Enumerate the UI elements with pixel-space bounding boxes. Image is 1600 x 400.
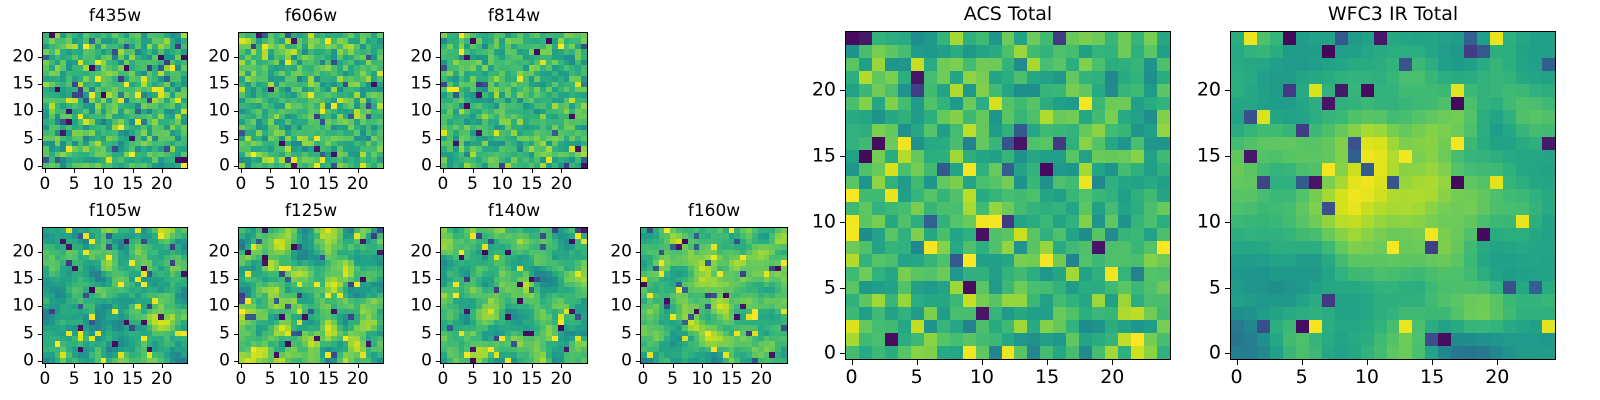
heatmap-cell [1002,71,1015,84]
x-tick-mark [473,169,474,173]
x-tick-mark [502,169,503,173]
heatmap-cell [937,228,950,241]
heatmap-cell [1066,241,1079,254]
x-tick-mark [358,169,359,173]
x-tick-mark [643,364,644,368]
x-tick-mark [329,364,330,368]
heatmap-cell [1079,58,1092,71]
heatmap-cell [1144,58,1157,71]
heatmap-cell [1105,124,1118,137]
heatmap-cell [911,84,924,97]
heatmap-cell [1002,45,1015,58]
heatmap-cell [1027,254,1040,267]
heatmap-cell [1144,32,1157,45]
heatmap-cell [872,32,885,45]
heatmap-cell [872,137,885,150]
y-tick-mark [436,306,440,307]
heatmap-grid [641,228,787,363]
heatmap-cell [846,110,859,123]
heatmap-cell [1092,58,1105,71]
heatmap-cell [1092,215,1105,228]
heatmap-cell [924,176,937,189]
heatmap-cell [1053,163,1066,176]
heatmap-cell [1079,150,1092,163]
heatmap-cell [989,163,1002,176]
y-tick-mark [234,111,238,112]
heatmap-cell [1027,110,1040,123]
heatmap-cell [1092,71,1105,84]
heatmap-cell [898,124,911,137]
heatmap-cell [950,124,963,137]
heatmap-cell [1092,45,1105,58]
heatmap-cell [846,150,859,163]
heatmap-cell [181,358,187,363]
heatmap-cell [581,358,587,363]
heatmap-cell [1118,176,1131,189]
heatmap-cell [1014,150,1027,163]
y-tick-label: 0 [392,353,432,370]
heatmap-cell [1144,137,1157,150]
heatmap-cell [1105,84,1118,97]
heatmap-cell [781,358,787,363]
heatmap-cell [1105,45,1118,58]
heatmap-cell [1014,228,1027,241]
heatmap-cell [846,124,859,137]
heatmap-cell [872,71,885,84]
heatmap-cell [1040,163,1053,176]
y-tick-label: 10 [592,298,632,315]
y-tick-label: 20 [392,243,432,260]
heatmap-cell [859,84,872,97]
y-tick-mark [234,84,238,85]
heatmap-cell [1040,110,1053,123]
x-tick-label: 20 [347,176,369,193]
heatmap-cell [1027,32,1040,45]
x-tick-label: 5 [265,176,276,193]
heatmap-cell [1079,124,1092,137]
heatmap-cell [872,254,885,267]
y-tick-label: 5 [0,325,34,342]
heatmap-cell [1105,32,1118,45]
heatmap-cell [1002,124,1015,137]
heatmap-cell [872,215,885,228]
heatmap-cell [1066,58,1079,71]
heatmap-cell [989,215,1002,228]
heatmap-cell [924,137,937,150]
x-tick-mark [561,364,562,368]
heatmap-cell [911,215,924,228]
heatmap-cell [1027,58,1040,71]
y-tick-label: 20 [592,243,632,260]
heatmap-plot-area[interactable] [238,227,384,364]
x-tick-mark [532,169,533,173]
heatmap-cell [872,163,885,176]
panel-title: f125w [238,203,384,220]
x-tick-label: 20 [751,371,773,388]
heatmap-cell [963,163,976,176]
heatmap-cell [924,124,937,137]
heatmap-cell [976,84,989,97]
heatmap-cell [1002,228,1015,241]
heatmap-cell [924,241,937,254]
heatmap-cell [1079,228,1092,241]
x-tick-label: 0 [39,371,50,388]
heatmap-cell [911,150,924,163]
heatmap-cell [963,241,976,254]
heatmap-cell [898,150,911,163]
heatmap-cell [859,71,872,84]
panel-title: f814w [440,8,588,25]
heatmap-cell [885,71,898,84]
heatmap-plot-area[interactable] [42,32,188,169]
heatmap-cell [937,32,950,45]
heatmap-cell [963,176,976,189]
heatmap-cell [1157,97,1170,110]
x-tick-label: 20 [151,176,173,193]
x-tick-mark [358,364,359,368]
heatmap-cell [859,189,872,202]
x-tick-mark [133,169,134,173]
x-tick-label: 15 [521,371,543,388]
heatmap-cell [911,32,924,45]
heatmap-cell [989,202,1002,215]
heatmap-cell [924,97,937,110]
heatmap-cell [1118,110,1131,123]
heatmap-cell [924,254,937,267]
x-tick-label: 5 [69,371,80,388]
heatmap-cell [1027,71,1040,84]
heatmap-cell [872,58,885,71]
heatmap-cell [1118,97,1131,110]
x-tick-label: 10 [491,371,513,388]
heatmap-cell [1092,176,1105,189]
heatmap-cell [963,45,976,58]
heatmap-cell [937,45,950,58]
heatmap-cell [1066,124,1079,137]
heatmap-cell [1118,71,1131,84]
heatmap-cell [1118,228,1131,241]
heatmap-cell [859,150,872,163]
heatmap-plot-area[interactable] [42,227,188,364]
heatmap-cell [1131,137,1144,150]
heatmap-cell [989,189,1002,202]
heatmap-cell [1079,163,1092,176]
heatmap-cell [1144,45,1157,58]
heatmap-cell [976,71,989,84]
heatmap-cell [911,163,924,176]
heatmap-cell [1092,189,1105,202]
heatmap-cell [377,163,383,168]
heatmap-cell [911,71,924,84]
heatmap-cell [937,176,950,189]
heatmap-cell [1066,202,1079,215]
heatmap-cell [1014,45,1027,58]
heatmap-cell [924,110,937,123]
x-tick-mark [45,169,46,173]
x-tick-mark [133,364,134,368]
heatmap-cell [1105,137,1118,150]
heatmap-plot-area[interactable] [440,227,588,364]
heatmap-cell [1027,241,1040,254]
y-tick-mark [38,166,42,167]
heatmap-cell [989,32,1002,45]
heatmap-cell [1014,137,1027,150]
heatmap-cell [1131,176,1144,189]
heatmap-cell [963,110,976,123]
heatmap-cell [924,189,937,202]
heatmap-cell [1040,137,1053,150]
heatmap-cell [963,84,976,97]
x-tick-label: 10 [92,371,114,388]
heatmap-cell [1105,228,1118,241]
y-tick-mark [234,166,238,167]
heatmap-cell [1157,163,1170,176]
heatmap-cell [989,45,1002,58]
y-tick-label: 15 [0,271,34,288]
heatmap-plot-area[interactable] [640,227,788,364]
heatmap-plot-area[interactable] [845,31,1171,360]
heatmap-cell [872,84,885,97]
heatmap-cell [1118,163,1131,176]
heatmap-cell [1014,202,1027,215]
heatmap-cell [1105,163,1118,176]
heatmap-cell [1027,228,1040,241]
heatmap-cell [181,163,187,168]
panel-title: f435w [42,8,188,25]
heatmap-cell [898,32,911,45]
y-tick-mark [38,139,42,140]
heatmap-cell [963,215,976,228]
heatmap-cell [898,163,911,176]
x-tick-mark [103,169,104,173]
heatmap-cell [1002,215,1015,228]
heatmap-cell [1066,97,1079,110]
heatmap-cell [885,150,898,163]
heatmap-cell [846,267,859,280]
heatmap-cell [1027,163,1040,176]
heatmap-cell [1014,97,1027,110]
heatmap-cell [989,176,1002,189]
heatmap-cell [911,45,924,58]
heatmap-cell [1002,110,1015,123]
heatmap-cell [872,45,885,58]
heatmap-cell [581,163,587,168]
y-tick-label: 15 [392,76,432,93]
heatmap-cell [859,124,872,137]
heatmap-cell [924,215,937,228]
heatmap-cell [1131,189,1144,202]
y-tick-mark [38,111,42,112]
heatmap-cell [911,124,924,137]
heatmap-plot-area[interactable] [238,32,384,169]
y-tick-mark [38,279,42,280]
heatmap-grid [43,33,187,168]
heatmap-cell [911,254,924,267]
heatmap-cell [1053,45,1066,58]
heatmap-cell [898,202,911,215]
heatmap-cell [911,228,924,241]
heatmap-cell [1053,215,1066,228]
x-tick-label: 10 [491,176,513,193]
y-tick-label: 15 [190,271,230,288]
heatmap-cell [976,202,989,215]
heatmap-cell [950,71,963,84]
heatmap-cell [1040,32,1053,45]
heatmap-cell [898,241,911,254]
heatmap-cell [1040,150,1053,163]
heatmap-cell [859,58,872,71]
heatmap-cell [846,163,859,176]
heatmap-cell [1079,241,1092,254]
y-tick-label: 20 [190,243,230,260]
heatmap-cell [1053,137,1066,150]
heatmap-cell [1066,137,1079,150]
heatmap-cell [1144,150,1157,163]
heatmap-cell [1002,137,1015,150]
heatmap-cell [1157,215,1170,228]
heatmap-cell [1014,124,1027,137]
heatmap-cell [1040,124,1053,137]
heatmap-cell [1131,228,1144,241]
panel-title: ACS Total [845,5,1171,24]
heatmap-cell [1002,189,1015,202]
y-tick-mark [38,306,42,307]
heatmap-cell [989,254,1002,267]
y-tick-label: 10 [392,103,432,120]
y-tick-label: 0 [392,158,432,175]
heatmap-cell [1131,150,1144,163]
heatmap-cell [1157,241,1170,254]
heatmap-cell [950,202,963,215]
heatmap-cell [950,189,963,202]
heatmap-plot-area[interactable] [440,32,588,169]
x-tick-label: 5 [69,176,80,193]
heatmap-cell [989,137,1002,150]
heatmap-cell [989,124,1002,137]
heatmap-cell [1040,84,1053,97]
heatmap-cell [1105,150,1118,163]
y-tick-label: 10 [190,103,230,120]
heatmap-cell [846,45,859,58]
heatmap-cell [1092,150,1105,163]
heatmap-cell [1105,241,1118,254]
heatmap-cell [885,176,898,189]
heatmap-cell [924,71,937,84]
heatmap-cell [924,150,937,163]
x-tick-mark [74,169,75,173]
heatmap-cell [937,241,950,254]
panel-title: f140w [440,203,588,220]
heatmap-cell [377,358,383,363]
heatmap-cell [859,254,872,267]
heatmap-cell [1092,163,1105,176]
heatmap-cell [1002,84,1015,97]
heatmap-cell [1066,163,1079,176]
heatmap-cell [1118,58,1131,71]
heatmap-cell [1002,58,1015,71]
heatmap-cell [1066,110,1079,123]
heatmap-cell [898,58,911,71]
heatmap-cell [1105,71,1118,84]
heatmap-cell [1144,176,1157,189]
heatmap-cell [1066,45,1079,58]
heatmap-cell [1014,110,1027,123]
heatmap-cell [1157,189,1170,202]
heatmap-cell [872,241,885,254]
heatmap-cell [1118,241,1131,254]
heatmap-cell [1066,228,1079,241]
heatmap-cell [1079,137,1092,150]
heatmap-cell [924,202,937,215]
heatmap-cell [1040,241,1053,254]
heatmap-cell [989,228,1002,241]
heatmap-cell [859,267,872,280]
heatmap-cell [1014,84,1027,97]
heatmap-cell [963,254,976,267]
x-tick-mark [241,364,242,368]
x-tick-label: 15 [318,371,340,388]
panel-title: f606w [238,8,384,25]
heatmap-cell [898,215,911,228]
heatmap-cell [1053,150,1066,163]
heatmap-cell [1040,45,1053,58]
heatmap-cell [898,84,911,97]
heatmap-cell [911,97,924,110]
heatmap-cell [885,202,898,215]
heatmap-cell [898,176,911,189]
x-tick-mark [561,169,562,173]
y-tick-label: 5 [592,325,632,342]
x-tick-label: 15 [318,176,340,193]
heatmap-cell [976,58,989,71]
x-tick-label: 20 [347,371,369,388]
x-tick-mark [443,169,444,173]
heatmap-cell [885,163,898,176]
heatmap-cell [1002,202,1015,215]
y-tick-mark [38,84,42,85]
y-tick-mark [436,139,440,140]
heatmap-cell [989,71,1002,84]
heatmap-cell [1118,137,1131,150]
heatmap-cell [859,215,872,228]
heatmap-cell [1066,71,1079,84]
y-tick-label: 5 [190,130,230,147]
heatmap-cell [911,176,924,189]
heatmap-cell [1144,71,1157,84]
heatmap-cell [963,58,976,71]
y-tick-mark [636,252,640,253]
y-tick-mark [234,334,238,335]
heatmap-cell [1131,110,1144,123]
heatmap-cell [1157,228,1170,241]
heatmap-cell [976,150,989,163]
heatmap-cell [989,241,1002,254]
heatmap-cell [846,202,859,215]
heatmap-cell [937,254,950,267]
x-tick-mark [473,364,474,368]
y-tick-label: 15 [0,76,34,93]
heatmap-cell [1144,84,1157,97]
heatmap-cell [1105,254,1118,267]
heatmap-cell [1027,45,1040,58]
heatmap-cell [950,32,963,45]
heatmap-cell [1079,189,1092,202]
heatmap-cell [846,32,859,45]
heatmap-cell [1002,97,1015,110]
heatmap-cell [859,110,872,123]
heatmap-cell [937,110,950,123]
heatmap-cell [1144,124,1157,137]
